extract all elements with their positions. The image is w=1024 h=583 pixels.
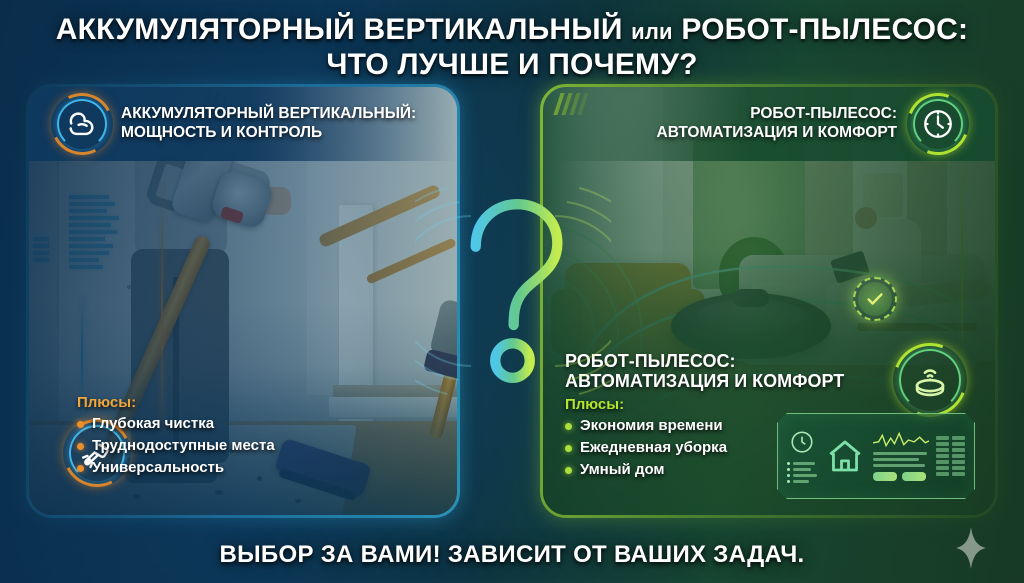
data-bars-icon <box>936 436 965 476</box>
waveform-icon <box>873 431 929 449</box>
left-benefits-block: Плюсы: Глубокая чистка Труднодоступные м… <box>77 394 275 479</box>
smart-home-hud-panel <box>777 413 975 499</box>
right-bullet-text: Умный дом <box>580 459 665 481</box>
left-bullet-text: Универсальность <box>92 457 224 479</box>
left-panel-header: АККУМУЛЯТОРНЫЙ ВЕРТИКАЛЬНЫЙ: МОЩНОСТЬ И … <box>29 87 457 161</box>
title-part-cordless: АККУМУЛЯТОРНЫЙ ВЕРТИКАЛЬНЫЙ <box>56 13 623 46</box>
footer-text: ВЫБОР ЗА ВАМИ! ЗАВИСИТ ОТ ВАШИХ ЗАДАЧ. <box>0 541 1024 569</box>
bicep-muscle-icon <box>51 93 113 155</box>
title-part-robot: РОБОТ-ПЫЛЕСОС: <box>681 13 968 46</box>
title-subline: ЧТО ЛУЧШЕ И ПОЧЕМУ? <box>0 49 1024 81</box>
left-benefit-list: Глубокая чистка Труднодоступные места Ун… <box>77 413 275 479</box>
bullet-dot-icon <box>565 467 572 474</box>
left-plus-label: Плюсы: <box>77 394 275 411</box>
footer: ВЫБОР ЗА ВАМИ! ЗАВИСИТ ОТ ВАШИХ ЗАДАЧ. <box>0 541 1024 569</box>
bullet-dot-icon <box>77 465 84 472</box>
list-item: Глубокая чистка <box>77 413 275 435</box>
list-item: Труднодоступные места <box>77 435 275 457</box>
left-bullet-text: Труднодоступные места <box>92 435 275 457</box>
left-header-line2: МОЩНОСТЬ И КОНТРОЛЬ <box>121 124 416 143</box>
list-item: Универсальность <box>77 457 275 479</box>
bullet-dot-icon <box>77 421 84 428</box>
hud-waveform-group <box>873 431 929 481</box>
left-header-line1: АККУМУЛЯТОРНЫЙ ВЕРТИКАЛЬНЫЙ: <box>121 105 416 124</box>
hud-clock-group <box>787 429 817 483</box>
title-conjunction: или <box>631 19 673 44</box>
right-header-line2: АВТОМАТИЗАЦИЯ И КОМФОРТ <box>657 124 897 143</box>
home-icon <box>824 435 866 477</box>
bullet-dot-icon <box>77 443 84 450</box>
clock-icon <box>789 429 815 455</box>
right-bullet-text: Ежедневная уборка <box>580 437 727 459</box>
bullet-dot-icon <box>565 445 572 452</box>
bullet-dot-icon <box>565 423 572 430</box>
clock-icon <box>907 93 969 155</box>
right-panel-header: РОБОТ-ПЫЛЕСОС: АВТОМАТИЗАЦИЯ И КОМФОРТ <box>543 87 995 161</box>
robot-vacuum-wifi-icon <box>893 343 967 417</box>
question-glow-rings <box>415 180 611 402</box>
check-mark-icon <box>853 277 897 321</box>
right-bullet-text: Экономия времени <box>580 415 723 437</box>
left-bullet-text: Глубокая чистка <box>92 413 214 435</box>
panel-cordless-vacuum[interactable]: АККУМУЛЯТОРНЫЙ ВЕРТИКАЛЬНЫЙ: МОЩНОСТЬ И … <box>26 84 460 518</box>
page-title: АККУМУЛЯТОРНЫЙ ВЕРТИКАЛЬНЫЙ или РОБОТ-ПЫ… <box>0 14 1024 82</box>
infographic-canvas: АККУМУЛЯТОРНЫЙ ВЕРТИКАЛЬНЫЙ или РОБОТ-ПЫ… <box>0 0 1024 583</box>
question-mark-icon <box>455 196 570 386</box>
right-header-line1: РОБОТ-ПЫЛЕСОС: <box>657 105 897 124</box>
